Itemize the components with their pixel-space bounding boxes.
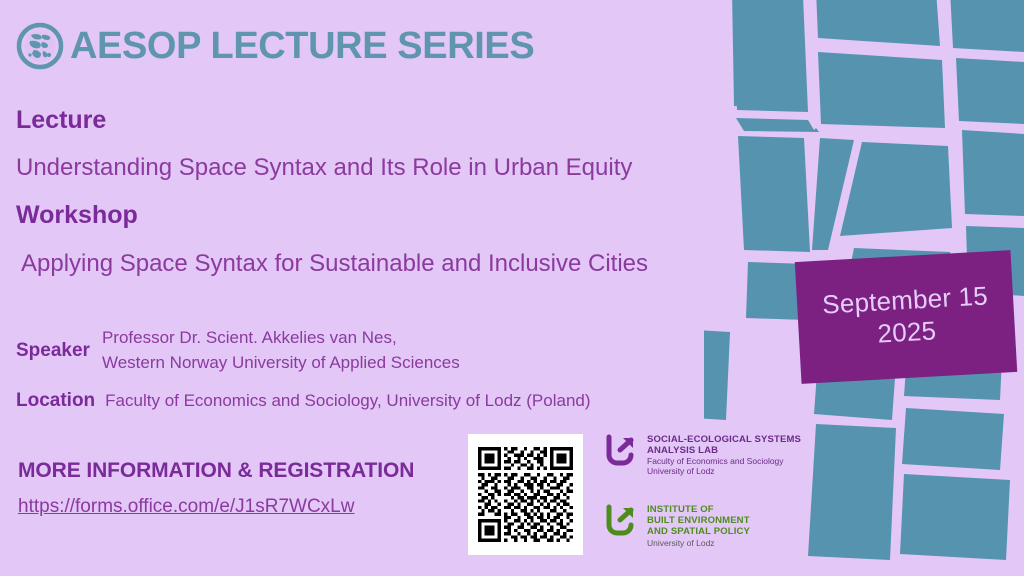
location-label: Location xyxy=(16,390,95,412)
speaker-name: Professor Dr. Scient. Akkelies van Nes, xyxy=(102,328,397,347)
brand-header: AESOP LECTURE SERIES xyxy=(16,22,534,70)
ibesp-name-line-2: BUILT ENVIRONMENT xyxy=(647,515,750,526)
aesop-globe-icon xyxy=(16,22,64,70)
sesal-name-line-2: ANALYSIS LAB xyxy=(647,445,801,456)
sesal-sub-line-1: Faculty of Economics and Sociology xyxy=(647,456,801,466)
arrow-hook-icon xyxy=(604,434,638,468)
sesal-sub-line-2: University of Lodz xyxy=(647,466,801,476)
ibesp-sub-line-1: University of Lodz xyxy=(647,538,750,548)
ibesp-name-line-1: INSTITUTE OF xyxy=(647,504,750,515)
workshop-title: Applying Space Syntax for Sustainable an… xyxy=(21,250,648,278)
partner-logo-ibesp: INSTITUTE OF BUILT ENVIRONMENT AND SPATI… xyxy=(604,504,750,548)
partner-logo-sesal-text: SOCIAL-ECOLOGICAL SYSTEMS ANALYSIS LAB F… xyxy=(647,434,801,476)
workshop-label: Workshop xyxy=(16,201,138,230)
qr-code-icon[interactable] xyxy=(478,447,573,542)
date-line-2: 2025 xyxy=(877,315,937,350)
poster-canvas: September 15 2025 AESOP LECTURE SERIES L… xyxy=(0,0,1024,576)
location-value: Faculty of Economics and Sociology, Univ… xyxy=(105,389,590,414)
arrow-hook-icon xyxy=(604,504,638,538)
speaker-affiliation: Western Norway University of Applied Sci… xyxy=(102,353,460,372)
location-row: Location Faculty of Economics and Sociol… xyxy=(16,389,591,414)
qr-code-panel[interactable] xyxy=(468,434,583,555)
page-title: AESOP LECTURE SERIES xyxy=(70,25,534,68)
ibesp-name-line-3: AND SPATIAL POLICY xyxy=(647,526,750,537)
partner-logo-sesal: SOCIAL-ECOLOGICAL SYSTEMS ANALYSIS LAB F… xyxy=(604,434,801,476)
speaker-value: Professor Dr. Scient. Akkelies van Nes, … xyxy=(102,326,460,375)
speaker-row: Speaker Professor Dr. Scient. Akkelies v… xyxy=(16,326,460,375)
lecture-label: Lecture xyxy=(16,106,106,135)
sesal-name-line-1: SOCIAL-ECOLOGICAL SYSTEMS xyxy=(647,434,801,445)
lecture-title: Understanding Space Syntax and Its Role … xyxy=(16,154,632,182)
speaker-label: Speaker xyxy=(16,340,90,362)
date-line-1: September 15 xyxy=(821,281,988,322)
date-badge: September 15 2025 xyxy=(795,250,1017,384)
partner-logo-ibesp-text: INSTITUTE OF BUILT ENVIRONMENT AND SPATI… xyxy=(647,504,750,548)
registration-url-link[interactable]: https://forms.office.com/e/J1sR7WCxLw xyxy=(18,496,354,518)
registration-heading: MORE INFORMATION & REGISTRATION xyxy=(18,459,414,483)
